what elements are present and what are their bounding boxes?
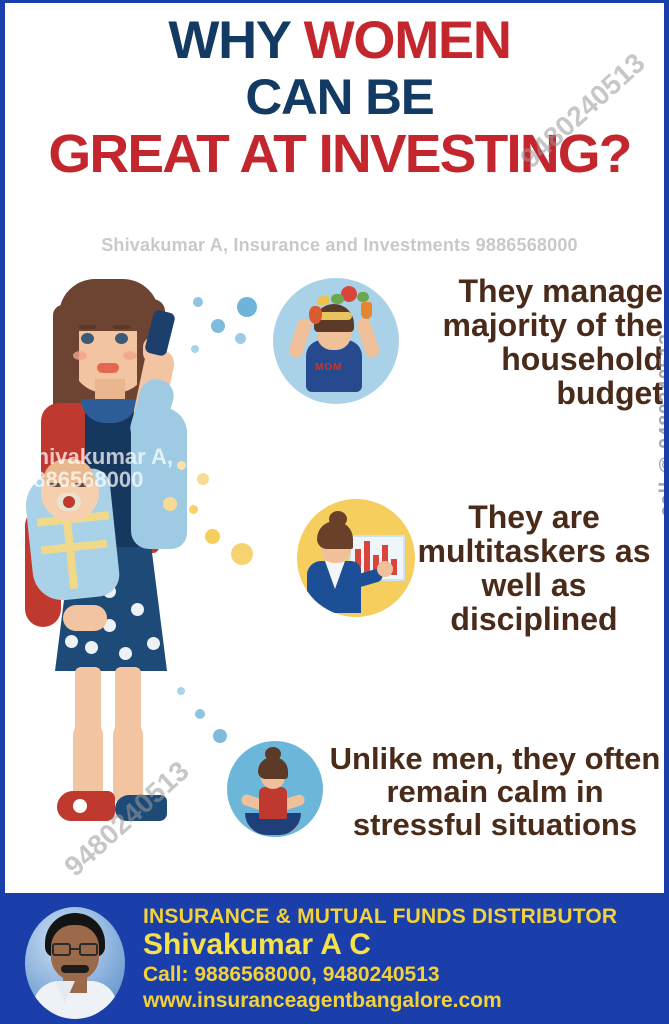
trail-dot [193,297,203,307]
skirt-flower [147,637,160,650]
fact-text-3: Unlike men, they often remain calm in st… [329,743,661,842]
skirt-flower [65,635,78,648]
footer-website[interactable]: www.insuranceagentbangalore.com [143,989,663,1013]
trail-dot [213,729,227,743]
eye-right [115,333,128,344]
trail-dot [191,345,199,353]
title-line-1: WHY WOMEN [0,15,669,67]
trail-dot [237,297,257,317]
calf-right [113,721,143,803]
woman-with-baby-illustration [19,275,229,875]
shoe-flower-detail [73,799,87,813]
trail-dot [235,333,246,344]
avatar [25,907,125,1019]
businesswoman-bar-chart-icon [297,499,415,617]
trail-dot [189,505,198,514]
woman-meditating-lotus-icon [227,741,323,837]
footer-name: Shivakumar A C [143,928,663,962]
lips-shape [97,363,119,373]
top-shape [259,787,287,819]
skirt-flower [119,647,132,660]
mustache-shape [61,965,89,973]
fact-text-1: They manage majority of the household bu… [409,275,663,411]
title-line-2: CAN BE [0,73,669,122]
eye-left [81,333,94,344]
trail-dot [231,543,253,565]
skirt-flower [131,603,144,616]
glasses-bridge [71,948,79,950]
footer-contact-block: INSURANCE & MUTUAL FUNDS DISTRIBUTOR Shi… [143,905,663,1013]
trail-dot [195,709,205,719]
supporting-hand [63,605,107,631]
page-title: WHY WOMEN CAN BE GREAT AT INVESTING? [5,15,669,181]
pointing-hand [377,561,393,577]
mom-shirt-label: MOM [315,362,353,374]
hair-bun-shape [265,747,281,761]
trail-dot [163,497,177,511]
blush-right [123,351,137,360]
glasses-lens-right [79,943,98,956]
shoe-navy [115,795,167,821]
pear-icon [309,306,322,324]
skirt-flower [85,641,98,654]
mom-juggling-groceries-icon: MOM [273,278,399,404]
title-line-3: GREAT AT INVESTING? [0,128,669,181]
trail-dot [177,461,186,470]
baby-eye-left [49,483,61,487]
glasses-lens-left [52,943,71,956]
hair-bun-shape [329,511,347,527]
leaf-icon [357,292,369,302]
carrot-icon [361,302,372,319]
leaf-icon [331,294,344,304]
trail-dot [205,529,220,544]
trail-dot [177,687,185,695]
footer-banner: INSURANCE & MUTUAL FUNDS DISTRIBUTOR Shi… [5,889,669,1024]
watermark-vertical-right: call @ 9480240513 [656,333,669,516]
blush-left [73,351,87,360]
pacifier-nipple [63,496,75,508]
hair-fringe-shape [59,279,159,331]
trail-dot [211,319,225,333]
eyebrow-right [113,325,130,329]
footer-tagline: INSURANCE & MUTUAL FUNDS DISTRIBUTOR [143,905,663,929]
trail-dot [197,473,209,485]
fact-text-2: They are multitaskers as well as discipl… [417,501,651,637]
footer-phone[interactable]: Call: 9886568000, 9480240513 [143,963,663,987]
title-women: WOMEN [304,11,511,70]
eyebrow-left [79,325,96,329]
header-watermark: Shivakumar A, Insurance and Investments … [5,235,669,256]
baby-eye-right [75,483,87,487]
infographic-poster: WHY WOMEN CAN BE GREAT AT INVESTING? Shi… [0,0,669,1024]
title-why: WHY [168,11,303,70]
